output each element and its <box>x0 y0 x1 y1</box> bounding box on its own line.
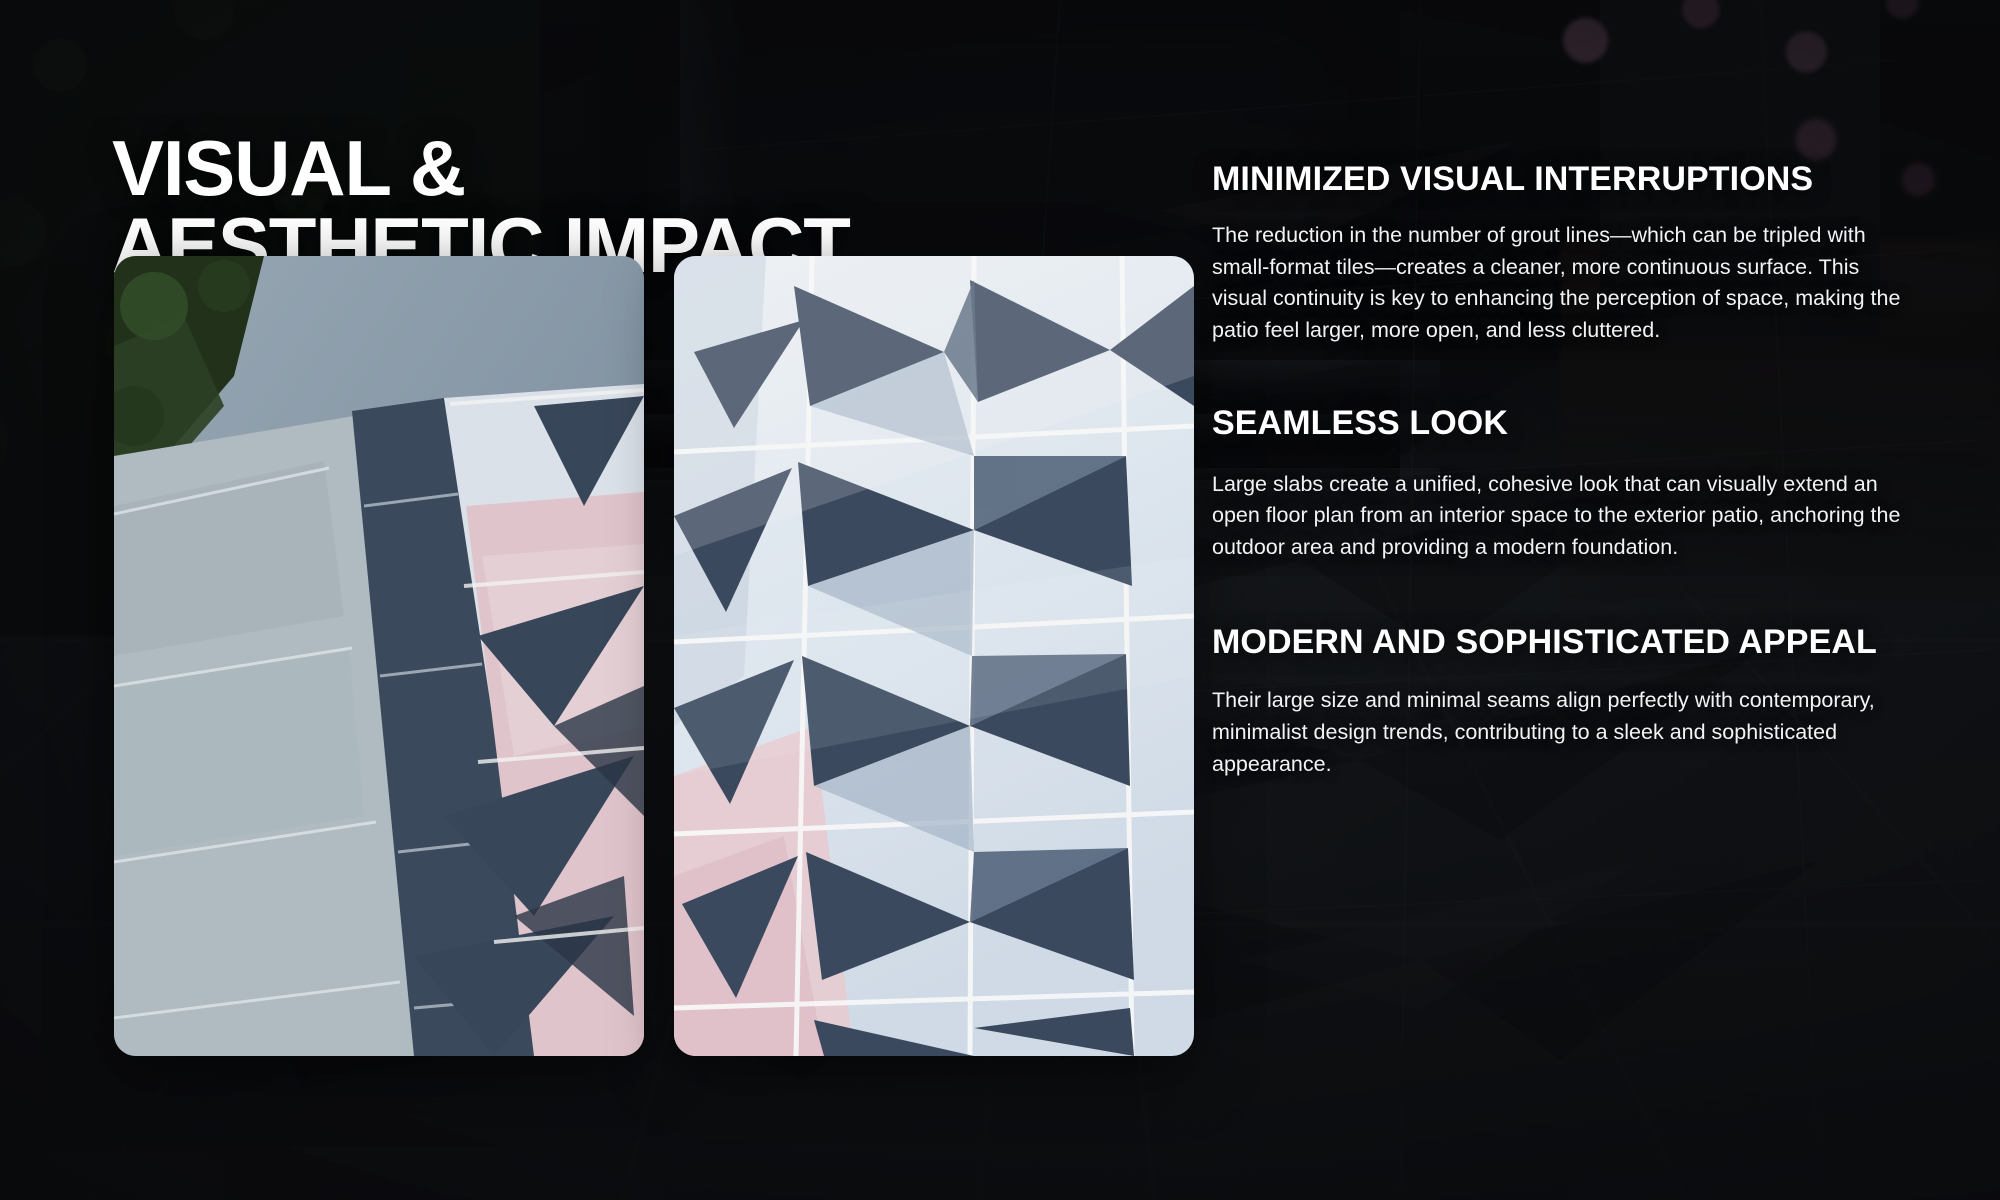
gallery-card-right[interactable] <box>674 256 1194 1056</box>
feature-heading: MINIMIZED VISUAL INTERRUPTIONS <box>1212 160 1902 198</box>
feature-body: Their large size and minimal seams align… <box>1212 685 1902 780</box>
feature-body: The reduction in the number of grout lin… <box>1212 220 1902 346</box>
feature-body: Large slabs create a unified, cohesive l… <box>1212 469 1902 564</box>
feature-heading: SEAMLESS LOOK <box>1212 404 1902 442</box>
feature-block-modern-and-sophisticated-appeal: MODERN AND SOPHISTICATED APPEAL Their la… <box>1212 623 1902 780</box>
slide-canvas: VISUAL & AESTHETIC IMPACT <box>0 0 2000 1200</box>
feature-heading: MODERN AND SOPHISTICATED APPEAL <box>1212 623 1902 661</box>
features-column: MINIMIZED VISUAL INTERRUPTIONS The reduc… <box>1212 160 1902 780</box>
image-gallery <box>114 256 1184 1056</box>
gallery-card-left[interactable] <box>114 256 644 1056</box>
feature-block-minimized-visual-interruptions: MINIMIZED VISUAL INTERRUPTIONS The reduc… <box>1212 160 1902 346</box>
page-title-line-1: VISUAL & <box>112 124 465 212</box>
feature-block-seamless-look: SEAMLESS LOOK Large slabs create a unifi… <box>1212 404 1902 563</box>
